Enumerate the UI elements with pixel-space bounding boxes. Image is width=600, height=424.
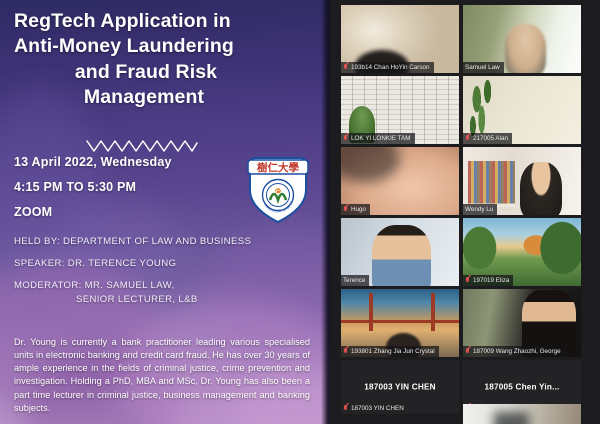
participant-name-label: 197019 Eliza xyxy=(473,276,509,285)
video-tile[interactable]: Terence xyxy=(341,218,459,286)
video-tile[interactable]: 193b14 Chan HoYin Carson xyxy=(341,5,459,73)
participant-name-bar: LOK YI LONKIE TAM xyxy=(341,133,415,144)
poster-title-line: and Fraud Risk xyxy=(14,60,308,85)
event-speaker: SPEAKER: DR. TERENCE YOUNG xyxy=(14,258,251,270)
microphone-muted-icon xyxy=(343,405,348,412)
participant-figure xyxy=(520,162,562,215)
participant-name-label: Wendy Lu xyxy=(465,205,493,214)
participant-name-label: Samuel Law xyxy=(465,63,500,72)
bridge-deck-shape xyxy=(341,320,459,323)
speaker-bio: Dr. Young is currently a bank practition… xyxy=(14,336,310,415)
microphone-muted-icon xyxy=(465,277,470,284)
video-tile[interactable]: 217005 Alan xyxy=(463,76,581,144)
crest-chinese-name: 樹仁大學 xyxy=(257,161,299,174)
microphone-muted-icon xyxy=(465,135,470,142)
microphone-muted-icon xyxy=(465,348,470,355)
participant-name-label: LOK YI LONKIE TAM xyxy=(351,134,411,143)
participant-name-bar: 187009 Wang Zhaozhi, George xyxy=(463,346,565,357)
video-tile-partial[interactable] xyxy=(463,404,581,424)
university-crest-logo: 樹仁大學 仁 HONG KONG SHUE YAN UNIVERSITY xyxy=(242,150,314,228)
poster-title-line: RegTech Application in xyxy=(14,9,308,34)
participant-name-bar: Terence xyxy=(341,275,369,286)
participant-name-bar: Hugo xyxy=(341,204,370,215)
participant-name-label: 187009 Wang Zhaozhi, George xyxy=(473,347,561,356)
microphone-muted-icon xyxy=(343,135,348,142)
microphone-muted-icon xyxy=(343,64,348,71)
participant-name-bar: 197019 Eliza xyxy=(463,275,513,286)
event-moderator: MODERATOR: MR. SAMUEL LAW, xyxy=(14,280,251,292)
event-time: 4:15 PM TO 5:30 PM xyxy=(14,180,172,194)
participant-name-bar: 193b14 Chan HoYin Carson xyxy=(341,62,434,73)
event-held-by: HELD BY: DEPARTMENT OF LAW AND BUSINESS xyxy=(14,236,251,248)
event-details: HELD BY: DEPARTMENT OF LAW AND BUSINESS … xyxy=(14,236,251,316)
participant-display-name: 187005 Chen Yin... xyxy=(463,383,581,392)
participant-name-label: 217005 Alan xyxy=(473,134,508,143)
poster-title-line: Anti-Money Laundering xyxy=(14,34,308,59)
video-tile[interactable]: Hugo xyxy=(341,147,459,215)
participant-figure xyxy=(372,225,431,286)
crest-center-char: 仁 xyxy=(276,189,281,196)
participant-name-label: Terence xyxy=(343,276,365,285)
event-date: 13 April 2022, Wednesday xyxy=(14,155,172,169)
participant-name-label: Hugo xyxy=(351,205,366,214)
video-tile[interactable]: Wendy Lu xyxy=(463,147,581,215)
zoom-meeting-screen: RegTech Application in Anti-Money Launde… xyxy=(0,0,600,424)
participant-display-name: 187003 YIN CHEN xyxy=(341,383,459,392)
participant-video-grid[interactable]: 193b14 Chan HoYin CarsonSamuel LawLOK YI… xyxy=(330,0,600,424)
video-tile[interactable]: LOK YI LONKIE TAM xyxy=(341,76,459,144)
video-tile-camera-off[interactable]: 187003 YIN CHEN187003 YIN CHEN xyxy=(341,360,459,414)
participant-name-label: 187003 YIN CHEN xyxy=(351,404,404,413)
participant-name-label: 193801 Zhang Jia Jun Crystal xyxy=(351,347,435,356)
microphone-muted-icon xyxy=(343,206,348,213)
participant-name-label: 193b14 Chan HoYin Carson xyxy=(351,63,430,72)
video-tile[interactable]: 187009 Wang Zhaozhi, George xyxy=(463,289,581,357)
participant-video-feed xyxy=(463,404,581,424)
participant-name-bar: Wendy Lu xyxy=(463,204,497,215)
video-tile[interactable]: 193801 Zhang Jia Jun Crystal xyxy=(341,289,459,357)
participant-name-bar: 187003 YIN CHEN xyxy=(341,403,408,414)
poster-title: RegTech Application in Anti-Money Launde… xyxy=(0,0,330,110)
microphone-muted-icon xyxy=(343,348,348,355)
participant-name-bar: Samuel Law xyxy=(463,62,504,73)
zigzag-divider-icon xyxy=(86,139,198,153)
event-meta: 13 April 2022, Wednesday 4:15 PM TO 5:30… xyxy=(14,155,172,230)
participant-name-bar: 217005 Alan xyxy=(463,133,512,144)
video-tile[interactable]: Samuel Law xyxy=(463,5,581,73)
shared-screen-poster: RegTech Application in Anti-Money Launde… xyxy=(0,0,330,424)
video-tile[interactable]: 197019 Eliza xyxy=(463,218,581,286)
event-platform: ZOOM xyxy=(14,205,172,219)
event-moderator-title: SENIOR LECTURER, L&B xyxy=(14,294,251,306)
participant-name-bar: 193801 Zhang Jia Jun Crystal xyxy=(341,346,439,357)
poster-title-line: Management xyxy=(14,85,308,110)
